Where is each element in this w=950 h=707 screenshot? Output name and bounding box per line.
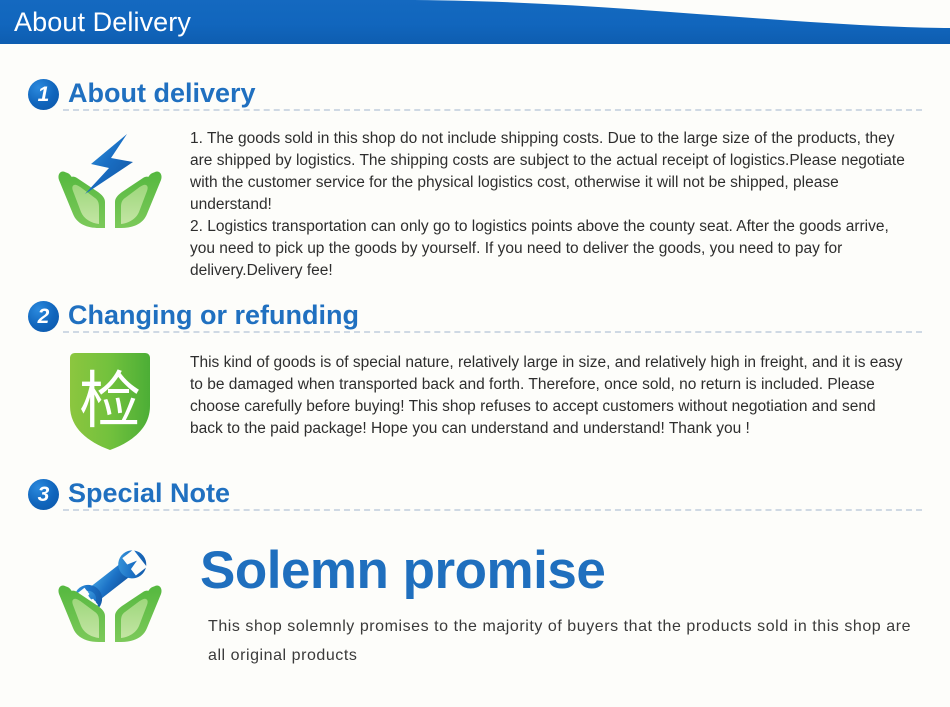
section-heading-2: 2 Changing or refunding [0, 296, 950, 338]
section-number-badge-3: 3 [28, 479, 59, 510]
section-divider-2 [63, 331, 922, 333]
section-title-1: About delivery [68, 74, 256, 112]
solemn-promise-text: This shop solemnly promises to the major… [208, 612, 920, 670]
content-area: 1 About delivery [0, 74, 950, 670]
section-text-cell-1: 1. The goods sold in this shop do not in… [190, 128, 920, 282]
section-body-3: Solemn promise This shop solemnly promis… [0, 538, 950, 670]
section-heading-3: 3 Special Note [0, 474, 950, 516]
solemn-promise-title: Solemn promise [200, 538, 920, 604]
section-heading-1: 1 About delivery [0, 74, 950, 116]
section-icon-cell-3 [30, 538, 190, 643]
section-number-badge-1: 1 [28, 79, 59, 110]
section-paragraph-1-1: 1. The goods sold in this shop do not in… [190, 128, 910, 216]
green-shield-inspection-icon: 检 [64, 352, 156, 452]
section-paragraph-1-2: 2. Logistics transportation can only go … [190, 216, 910, 282]
shield-character: 检 [79, 364, 141, 437]
promise-text-cell: Solemn promise This shop solemnly promis… [190, 538, 920, 670]
hands-holding-wrench-icon [55, 538, 165, 643]
page-title: About Delivery [14, 2, 191, 42]
section-body-2: 检 This kind of goods is of special natur… [0, 352, 950, 452]
section-icon-cell-1 [30, 128, 190, 228]
section-title-3: Special Note [68, 474, 230, 512]
page-header: About Delivery [0, 0, 950, 48]
section-text-cell-2: This kind of goods is of special nature,… [190, 352, 920, 440]
section-paragraph-2-1: This kind of goods is of special nature,… [190, 352, 910, 440]
section-title-2: Changing or refunding [68, 296, 359, 334]
section-number-badge-2: 2 [28, 301, 59, 332]
section-icon-cell-2: 检 [30, 352, 190, 452]
section-divider-3 [63, 509, 922, 511]
section-body-1: 1. The goods sold in this shop do not in… [0, 128, 950, 282]
hands-holding-lightning-icon [55, 128, 165, 228]
section-divider-1 [63, 109, 922, 111]
